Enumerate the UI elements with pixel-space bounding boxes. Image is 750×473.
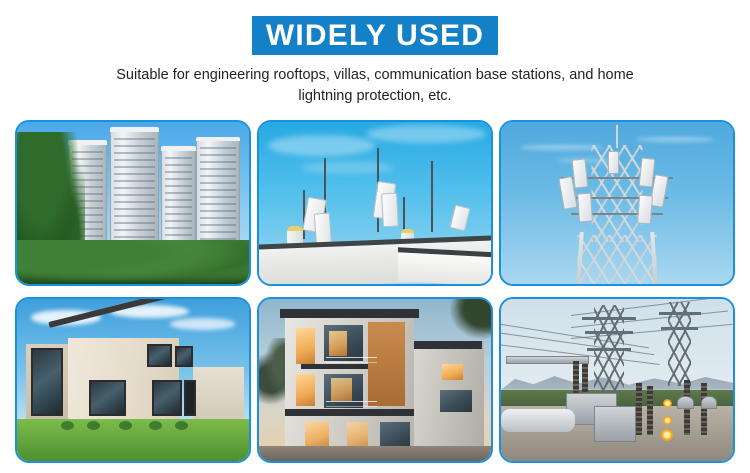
page-title: WIDELY USED <box>252 16 498 55</box>
gallery-item-rooftop-antennas <box>257 120 493 286</box>
page-subtitle: Suitable for engineering rooftops, villa… <box>95 65 655 107</box>
gallery-item-high-rise-apartments <box>15 120 251 286</box>
header: WIDELY USED Suitable for engineering roo… <box>0 0 750 107</box>
scene-communication-tower <box>501 122 733 284</box>
scene-rooftop-antennas <box>259 122 491 284</box>
gallery-item-luxury-villa-dusk <box>257 297 493 463</box>
gallery-item-modern-villa <box>15 297 251 463</box>
scene-luxury-villa-dusk <box>259 299 491 461</box>
scene-electrical-substation <box>501 299 733 461</box>
gallery-item-communication-tower <box>499 120 735 286</box>
gallery-item-electrical-substation <box>499 297 735 463</box>
scene-modern-villa <box>17 299 249 461</box>
image-gallery <box>15 120 735 463</box>
promo-page: WIDELY USED Suitable for engineering roo… <box>0 0 750 473</box>
scene-high-rise-apartments <box>17 122 249 284</box>
